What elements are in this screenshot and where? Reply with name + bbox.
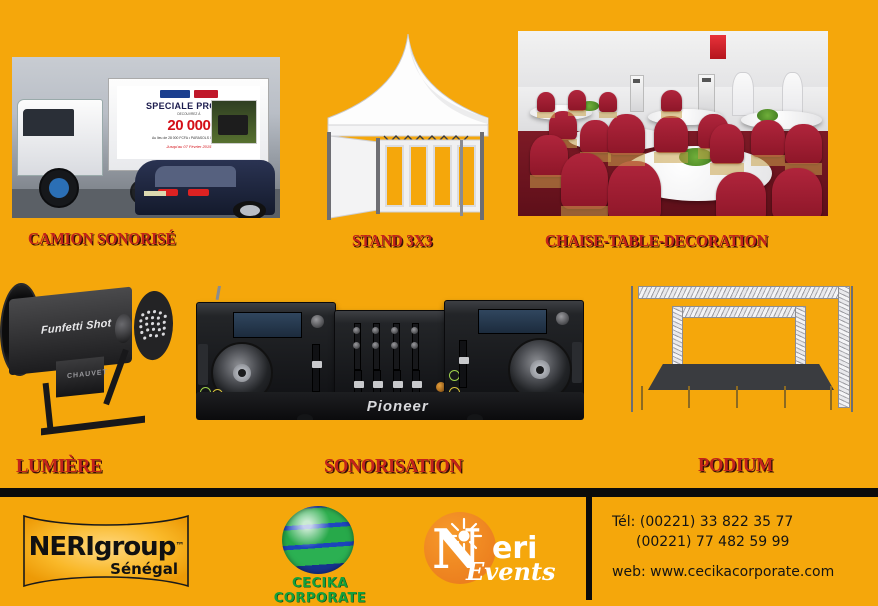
stage-leg xyxy=(688,386,690,408)
nerigroup-country-row: Sénégal xyxy=(18,560,194,579)
cecika-wordmark: CECIKA CORPORATE xyxy=(244,576,396,606)
mic-stand-rod xyxy=(216,286,224,300)
advert-logos xyxy=(117,86,260,98)
stage-truss-photo xyxy=(608,278,870,448)
pioneer-wordmark: Pioneer xyxy=(367,398,429,415)
stage-leg xyxy=(784,386,786,408)
stage-leg xyxy=(830,386,832,410)
tent-svg xyxy=(322,28,494,220)
banquet-chair xyxy=(580,120,611,153)
truck-box-body: SPECIALE PROMO DECOUVREZ À 20 000 Au lie… xyxy=(108,78,269,171)
nerigroup-name: NERIgroup xyxy=(29,532,176,562)
banquet-chair xyxy=(710,124,744,165)
caption-lumiere: LUMIÈRE xyxy=(16,455,102,478)
caption-podium: PODIUM xyxy=(698,454,773,477)
car-license-plate xyxy=(144,191,166,196)
car-rear-window xyxy=(155,166,236,188)
contact-web-label: web: xyxy=(612,564,646,580)
cdj-display-left xyxy=(233,312,302,338)
dj-equipment-photo: Pioneer xyxy=(196,286,584,420)
banquet-banner xyxy=(710,35,726,59)
banquet-chair xyxy=(608,161,661,217)
cdj-cue-pads-right xyxy=(572,342,582,383)
truss-top-front xyxy=(672,306,806,318)
truss-post-rear-left xyxy=(631,286,633,412)
mixer-knob xyxy=(411,342,418,349)
neri-events-tagline: Events xyxy=(466,560,556,584)
banquet-window-2 xyxy=(782,72,804,116)
caption-chaise: CHAISE-TABLE-DECORATION xyxy=(545,231,767,251)
banquet-ac-unit-2 xyxy=(698,74,715,115)
banquet-chair xyxy=(599,92,618,112)
contact-web-line: web: www.cecikacorporate.com xyxy=(612,562,868,582)
stage-leg xyxy=(641,386,643,410)
banquet-chair xyxy=(716,172,766,216)
stage-leg xyxy=(736,386,738,408)
banquet-chair xyxy=(785,124,822,165)
truck-wheel-rim xyxy=(49,178,69,198)
advert-product-image xyxy=(211,100,257,144)
contact-website[interactable]: www.cecikacorporate.com xyxy=(650,564,834,580)
car-wheel xyxy=(233,201,266,218)
truss-post-rear-right xyxy=(838,286,850,408)
mixer-knob xyxy=(372,342,379,349)
truss-post-rear-right-thin xyxy=(851,286,853,412)
cdj-tempo-fader-left xyxy=(312,344,320,392)
green-globe-icon xyxy=(282,506,354,574)
nerigroup-wordmark: NERIgroup™ xyxy=(18,532,194,562)
nerigroup-logo: NERIgroup™ Sénégal xyxy=(18,512,194,590)
banquet-chair xyxy=(661,90,683,112)
cecika-logo: CECIKA CORPORATE xyxy=(244,504,396,594)
dj-case-foot-left xyxy=(297,414,313,420)
contact-phone-label: Tél: xyxy=(612,514,635,530)
caption-camion: CAMION SONORISÉ xyxy=(28,229,176,249)
dj-case-foot-right xyxy=(467,414,483,420)
truck-wheel-front xyxy=(39,168,79,208)
cdj-cue-pads-left xyxy=(198,344,208,385)
banquet-ac-unit-1 xyxy=(630,75,644,112)
banquet-photo xyxy=(518,31,828,216)
banquet-chair xyxy=(772,168,822,216)
truck-advert-panel: SPECIALE PROMO DECOUVREZ À 20 000 Au lie… xyxy=(117,86,260,159)
caption-stand: STAND 3X3 xyxy=(352,231,432,251)
led-dots xyxy=(134,289,173,362)
banquet-chair xyxy=(751,120,785,157)
truck-windshield xyxy=(23,109,73,136)
footer-top-rule xyxy=(0,488,878,497)
cdj-rotary-selector-right xyxy=(556,312,569,325)
tent-photo xyxy=(322,28,494,220)
nerigroup-country: Sénégal xyxy=(110,560,178,578)
contact-phone-2: (00221) 77 482 59 99 xyxy=(636,534,789,550)
stage-deck xyxy=(648,364,834,390)
footer-vertical-divider xyxy=(586,497,592,600)
advert-logo-secondary xyxy=(194,90,218,98)
banquet-chair xyxy=(608,114,645,155)
banquet-chair xyxy=(654,116,688,153)
poster-root: SPECIALE PROMO DECOUVREZ À 20 000 Au lie… xyxy=(0,0,878,600)
truss-post-front-left xyxy=(672,306,683,370)
truss-top-rear xyxy=(638,286,850,299)
cannon-yoke-arm-left xyxy=(42,382,53,428)
cdj-rotary-selector-left xyxy=(311,315,324,328)
mixer-knob xyxy=(411,327,418,334)
truck-cabin xyxy=(17,99,103,176)
advert-logo-primary xyxy=(160,90,190,98)
caption-sonorisation: SONORISATION xyxy=(324,455,462,478)
cannon-base-bar xyxy=(41,416,145,436)
cdj-tempo-fader-right xyxy=(459,340,467,388)
cannon-led-array xyxy=(134,289,173,362)
banquet-chair xyxy=(537,92,556,112)
mixer-knob xyxy=(353,342,360,349)
truck-photo: SPECIALE PROMO DECOUVREZ À 20 000 Au lie… xyxy=(12,57,280,218)
contact-phone-line-2: (00221) 77 482 59 99 xyxy=(612,532,868,552)
nerigroup-trademark: ™ xyxy=(175,542,183,552)
confetti-cannon-photo: Funfetti Shot CHAUVET xyxy=(0,276,186,448)
banquet-chair xyxy=(561,153,608,209)
car-taillight-right xyxy=(188,189,209,196)
banquet-window-1 xyxy=(732,72,754,116)
contact-phone-line-1: Tél: (00221) 33 822 35 77 xyxy=(612,512,868,532)
contact-block: Tél: (00221) 33 822 35 77 (00221) 77 482… xyxy=(612,512,868,582)
truss-post-front-right xyxy=(795,306,806,370)
mixer-knob xyxy=(391,342,398,349)
contact-phone-1: (00221) 33 822 35 77 xyxy=(640,514,793,530)
advert-date: Jusqu'au 07 Février 2015 xyxy=(117,144,260,149)
cdj-display-right xyxy=(478,309,547,335)
banquet-chair xyxy=(568,90,587,110)
neri-events-logo: N eri Events xyxy=(418,508,578,594)
parked-car xyxy=(135,160,274,215)
